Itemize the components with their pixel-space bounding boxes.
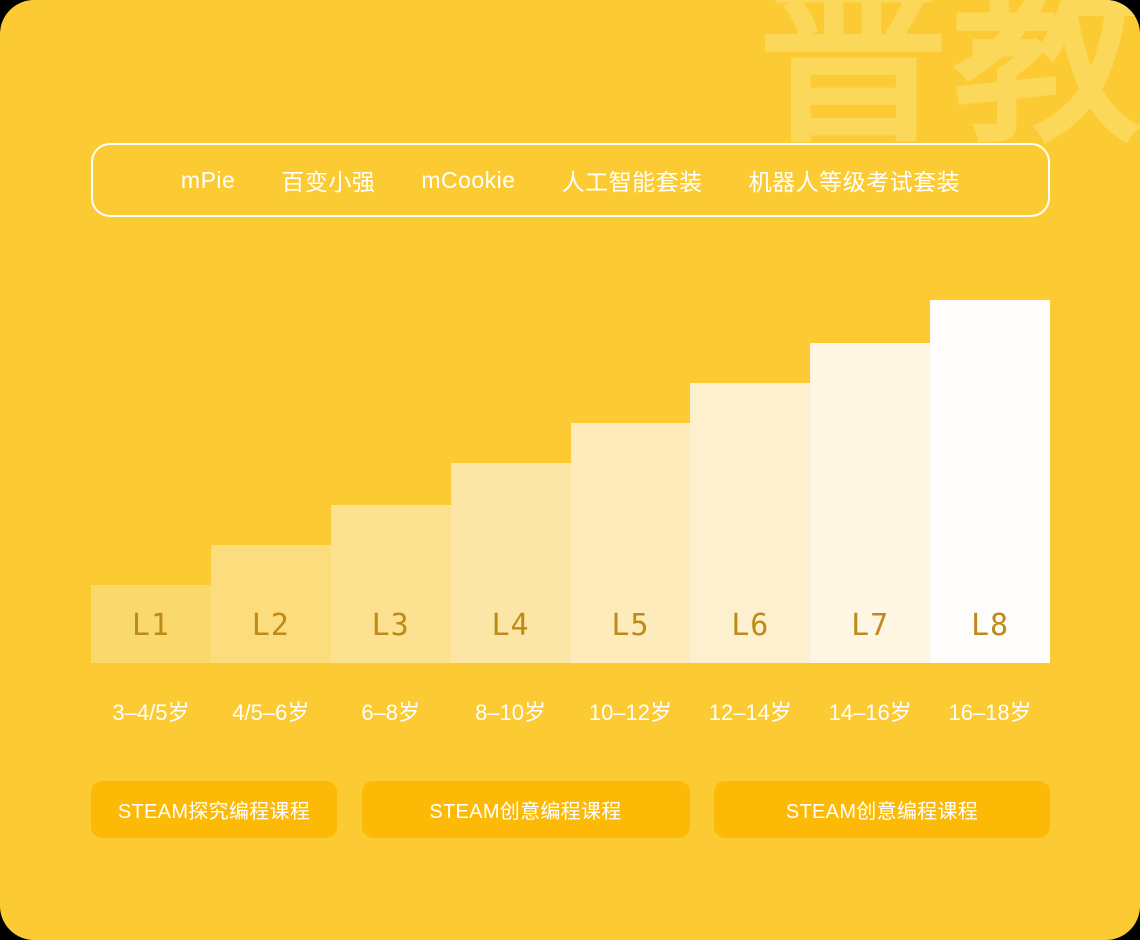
bar-l7[interactable]: L7	[810, 343, 930, 663]
bar-label-l7: L7	[810, 608, 930, 643]
age-label-l3: 6–8岁	[331, 695, 451, 727]
age-label-l4: 8–10岁	[451, 695, 571, 727]
bar-l5[interactable]: L5	[571, 423, 691, 663]
nav-item-robot-exam-kit[interactable]: 机器人等级考试套装	[726, 163, 984, 197]
bar-l1[interactable]: L1	[91, 585, 211, 663]
age-label-l2: 4/5–6岁	[211, 695, 331, 727]
nav-item-ai-kit[interactable]: 人工智能套装	[539, 163, 726, 197]
age-label-l6: 12–14岁	[690, 695, 810, 727]
bar-label-l2: L2	[211, 608, 331, 643]
nav-item-mpie[interactable]: mPie	[158, 167, 258, 194]
bar-label-l4: L4	[451, 608, 571, 643]
course-button-creative-1[interactable]: STEAM创意编程课程	[362, 781, 690, 838]
bar-l8[interactable]: L8	[930, 300, 1050, 663]
nav-item-baibianxiaoqiang[interactable]: 百变小强	[258, 163, 398, 197]
bar-label-l6: L6	[690, 608, 810, 643]
bar-l2[interactable]: L2	[211, 545, 331, 663]
product-nav-bar: mPie 百变小强 mCookie 人工智能套装 机器人等级考试套装	[91, 143, 1050, 217]
age-label-l7: 14–16岁	[810, 695, 930, 727]
bar-label-l5: L5	[571, 608, 691, 643]
course-button-explore[interactable]: STEAM探究编程课程	[91, 781, 337, 838]
age-label-l5: 10–12岁	[571, 695, 691, 727]
bar-label-l8: L8	[930, 608, 1050, 643]
bar-l4[interactable]: L4	[451, 463, 571, 663]
course-button-creative-2[interactable]: STEAM创意编程课程	[714, 781, 1050, 838]
course-button-group: STEAM探究编程课程 STEAM创意编程课程 STEAM创意编程课程	[91, 781, 1050, 838]
level-chart-card: 普教 mPie 百变小强 mCookie 人工智能套装 机器人等级考试套装 L1…	[0, 0, 1140, 940]
age-label-l8: 16–18岁	[930, 695, 1050, 727]
watermark-text: 普教	[758, 0, 1140, 154]
nav-item-mcookie[interactable]: mCookie	[398, 167, 538, 194]
age-label-l1: 3–4/5岁	[91, 695, 211, 727]
bar-label-l3: L3	[331, 608, 451, 643]
bar-label-l1: L1	[91, 608, 211, 643]
bar-l3[interactable]: L3	[331, 505, 451, 663]
level-bar-chart: L1 L2 L3 L4 L5 L6 L7 L8	[91, 295, 1050, 663]
age-range-axis: 3–4/5岁 4/5–6岁 6–8岁 8–10岁 10–12岁 12–14岁 1…	[91, 695, 1050, 727]
bar-l6[interactable]: L6	[690, 383, 810, 663]
